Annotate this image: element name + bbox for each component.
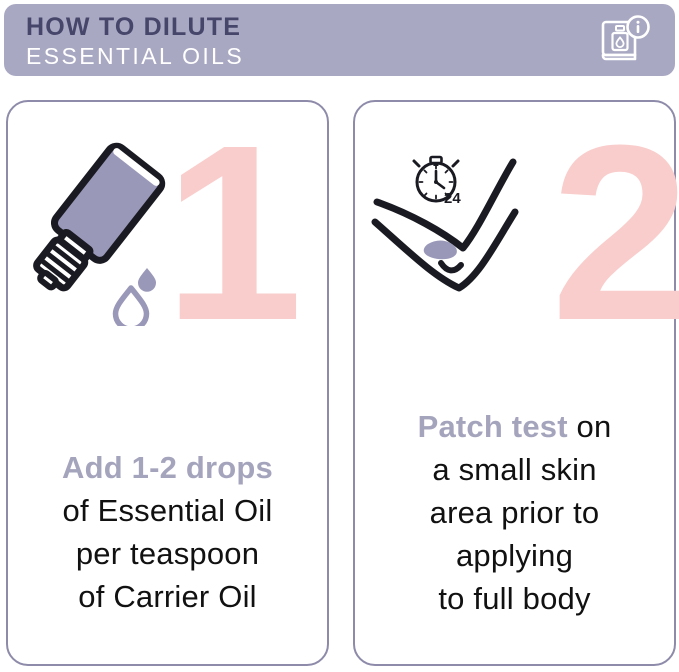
step-card-1: 1 [6,100,329,666]
step-card-1-caption-line-1: of Essential Oil [16,489,319,532]
infographic-root: HOW TO DILUTE ESSENTIAL OILS 1 [0,0,679,672]
step-card-1-caption-highlight: Add 1-2 drops [16,446,319,489]
step-card-2-caption: Patch test on a small skin area prior to… [355,405,674,620]
header-text-block: HOW TO DILUTE ESSENTIAL OILS [26,12,586,70]
bottle-info-icon [599,14,651,66]
step-number-2: 2 [551,108,679,358]
step-card-2-caption-first-line: Patch test on [363,405,666,448]
page-title: HOW TO DILUTE [26,12,586,42]
dropper-bottle-with-drops-icon [26,136,196,331]
arm-patch-test-stopwatch-icon: 24 [367,140,557,325]
step-card-2-caption-highlight: Patch test [418,409,568,444]
stopwatch-hours-label: 24 [444,190,461,207]
step-card-1-caption-line-2: per teaspoon [16,532,319,575]
step-card-2-caption-first-line-rest: on [568,409,612,444]
step-card-1-caption-line-3: of Carrier Oil [16,575,319,618]
step-card-1-inner: 1 [8,102,327,664]
step-card-2-caption-line-1: a small skin [363,448,666,491]
step-card-2-caption-line-3: applying [363,534,666,577]
step-card-2-caption-line-4: to full body [363,577,666,620]
step-card-2-inner: 2 [355,102,674,664]
step-card-2: 2 [353,100,676,666]
header-bar: HOW TO DILUTE ESSENTIAL OILS [4,4,675,76]
step-card-2-caption-line-2: area prior to [363,491,666,534]
page-subtitle: ESSENTIAL OILS [26,42,586,70]
step-card-1-caption: Add 1-2 drops of Essential Oil per teasp… [8,446,327,618]
